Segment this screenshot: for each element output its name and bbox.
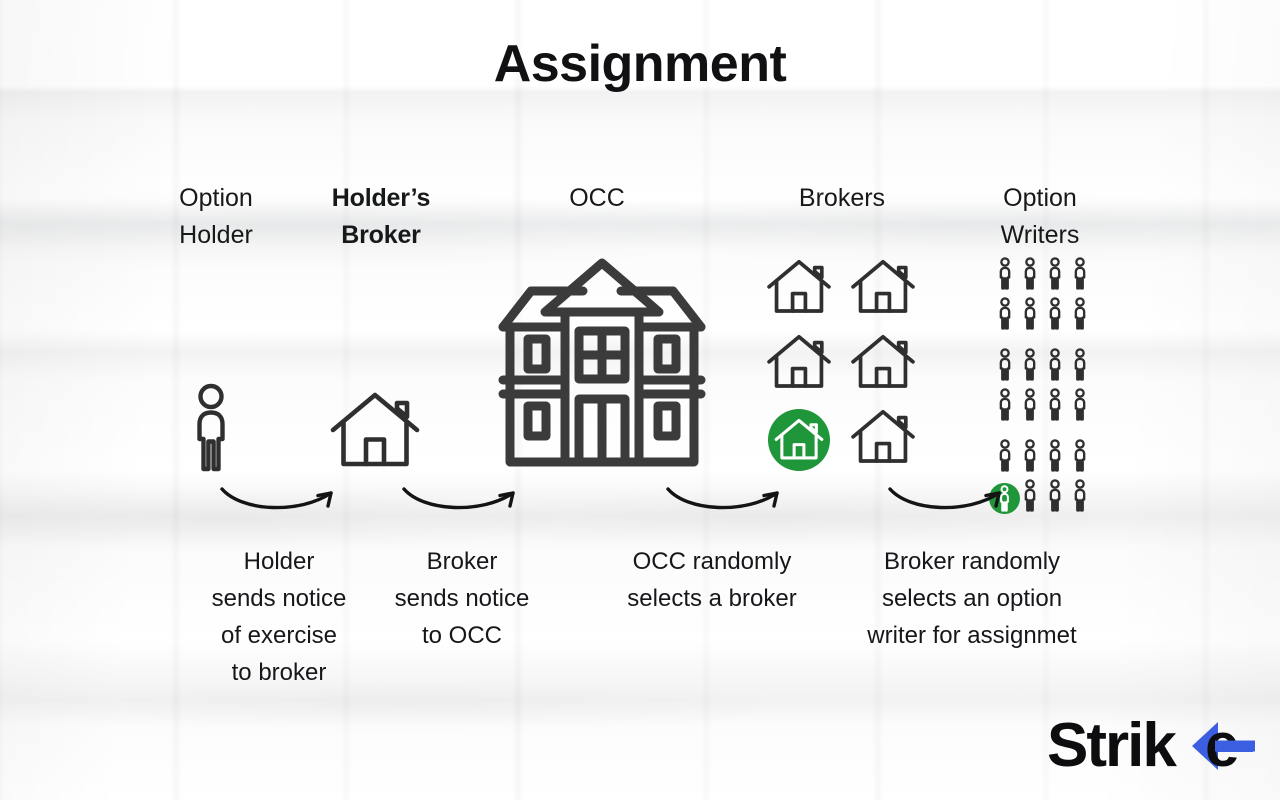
option-writer-person-icon-4 — [1072, 257, 1088, 295]
step-3-caption: OCC randomly selects a broker — [596, 543, 828, 617]
option-writer-person-icon-14 — [1022, 388, 1038, 426]
broker-house-icon-1 — [766, 259, 832, 321]
column-header-option-holder: Option Holder — [136, 180, 296, 254]
broker-house-icon-5-selected — [768, 409, 830, 471]
strike-logo[interactable]: Strik e — [1047, 714, 1262, 784]
option-writer-person-icon-8 — [1072, 297, 1088, 335]
broker-house-icon-4 — [850, 334, 916, 396]
institution-building-icon — [487, 255, 717, 477]
option-writer-person-icon-18 — [1022, 439, 1038, 477]
step-2-curved-arrow-right — [400, 484, 525, 525]
brokers-icon-grid — [757, 252, 925, 477]
step-3-curved-arrow-right — [664, 484, 789, 525]
option-writer-person-icon-2 — [1022, 257, 1038, 295]
column-header-occ: OCC — [517, 180, 677, 217]
option-writer-person-icon-1 — [997, 257, 1013, 295]
option-writer-person-icon-22 — [1022, 479, 1038, 517]
strike-text-dark: Strik — [1047, 711, 1177, 780]
occ-icon-group — [487, 255, 717, 482]
option-writers-icon-grid — [992, 256, 1092, 518]
broker-house-icon-6 — [850, 409, 916, 471]
option-writer-person-icon-11 — [1047, 348, 1063, 386]
step-4-curved-arrow-right — [886, 484, 1011, 525]
option-writer-person-icon-10 — [1022, 348, 1038, 386]
broker-house-icon-2 — [850, 259, 916, 321]
option-writer-group-2 — [992, 347, 1092, 427]
option-writer-person-icon-9 — [997, 348, 1013, 386]
option-writer-person-icon-7 — [1047, 297, 1063, 335]
step-2-caption: Broker sends notice to OCC — [352, 543, 572, 654]
column-header-holders-broker: Holder’s Broker — [296, 180, 466, 254]
step-4-caption: Broker randomly selects an option writer… — [846, 543, 1098, 654]
option-writer-person-icon-23 — [1047, 479, 1063, 517]
option-writer-person-icon-24 — [1072, 479, 1088, 517]
step-1-curved-arrow-right — [218, 484, 343, 525]
option-holder-icon-group — [189, 383, 233, 478]
option-writer-person-icon-16 — [1072, 388, 1088, 426]
option-writer-person-icon-15 — [1047, 388, 1063, 426]
option-writer-person-icon-20 — [1072, 439, 1088, 477]
option-writer-group-1 — [992, 256, 1092, 336]
diagram-stage: Assignment Option Holder Holder’s Broker… — [0, 0, 1280, 800]
option-writer-person-icon-5 — [997, 297, 1013, 335]
option-writer-person-icon-19 — [1047, 439, 1063, 477]
strike-wordmark: Strik e — [1047, 708, 1262, 784]
holders-broker-icon-group — [329, 391, 421, 476]
option-writer-person-icon-12 — [1072, 348, 1088, 386]
page-title: Assignment — [0, 34, 1280, 94]
column-header-brokers: Brokers — [762, 180, 922, 217]
strike-accent-bar — [1215, 741, 1255, 752]
broker-house-icon-3 — [766, 334, 832, 396]
option-writer-person-icon-6 — [1022, 297, 1038, 335]
option-writer-person-icon-13 — [997, 388, 1013, 426]
house-icon — [329, 391, 421, 471]
person-icon — [189, 383, 233, 473]
option-writer-person-icon-3 — [1047, 257, 1063, 295]
option-writer-person-icon-17 — [997, 439, 1013, 477]
column-header-option-writers: Option Writers — [960, 180, 1120, 254]
